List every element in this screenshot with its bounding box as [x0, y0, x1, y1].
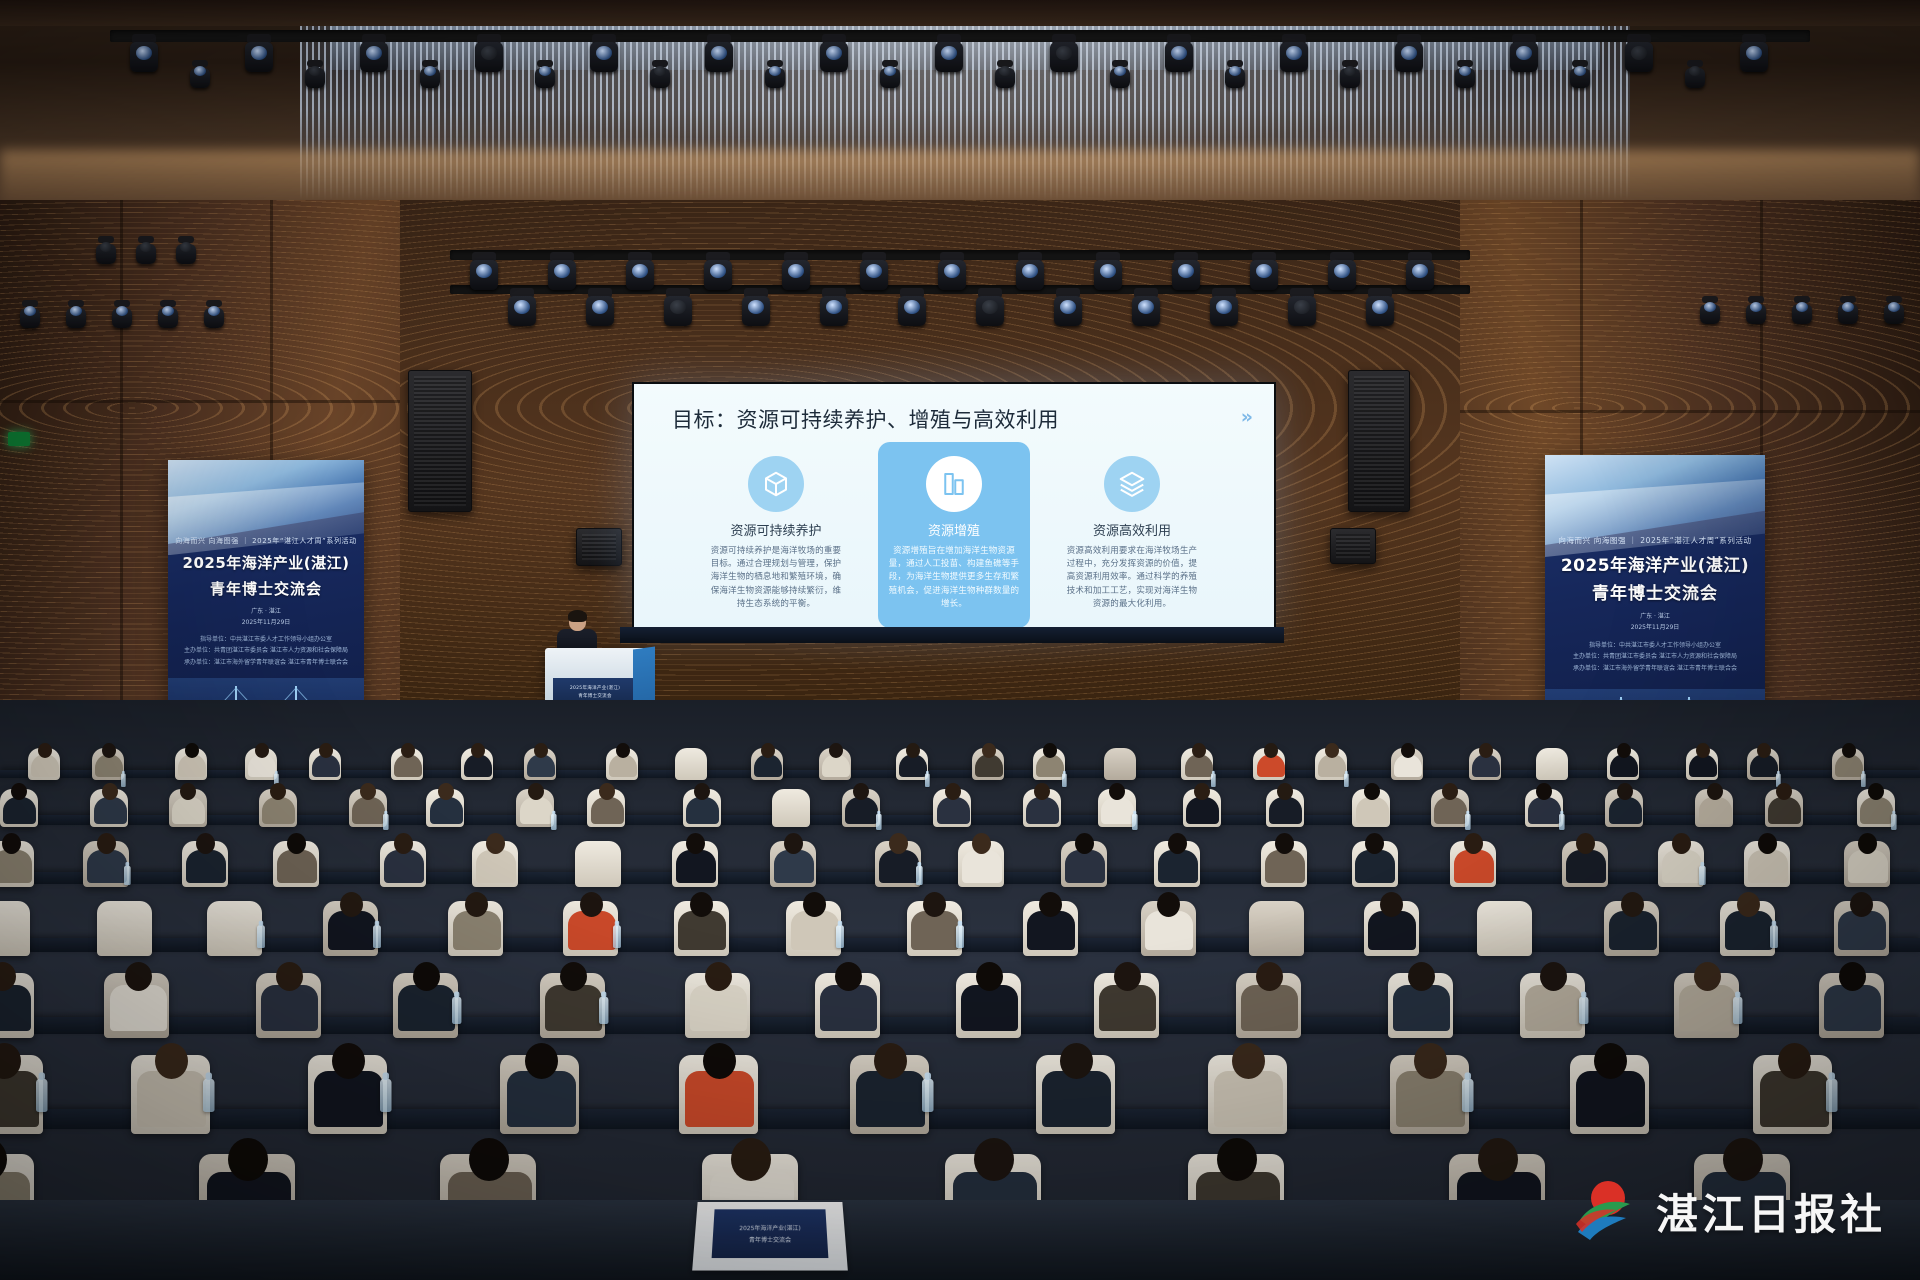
stage-light — [112, 300, 132, 332]
stage-light — [650, 60, 670, 92]
stage-light — [20, 300, 40, 332]
stage-light — [508, 288, 536, 334]
water-bottle — [36, 1079, 48, 1112]
chair — [772, 789, 810, 827]
stage-light — [705, 34, 733, 80]
audience-member — [1041, 1040, 1113, 1130]
banner-heading-2: 青年博士交流会 — [168, 578, 364, 599]
audience-member — [1157, 832, 1198, 884]
water-bottle — [1465, 814, 1471, 830]
audience-member — [261, 782, 296, 825]
water-bottle — [1733, 997, 1742, 1024]
slide-card-title: 资源增殖 — [928, 520, 980, 539]
stage-light — [1050, 34, 1078, 80]
audience-member — [1026, 890, 1075, 952]
water-bottle — [916, 866, 923, 885]
chart-bars-icon — [926, 456, 982, 512]
stage-light — [1250, 252, 1278, 298]
audience-member — [1608, 782, 1643, 825]
water-bottle — [551, 814, 557, 830]
stage-light — [626, 252, 654, 298]
audience-member — [506, 1040, 578, 1130]
chair — [0, 901, 30, 956]
audience-member — [429, 782, 464, 825]
audience-member — [844, 782, 879, 825]
water-bottle — [956, 925, 964, 948]
water-bottle — [452, 997, 461, 1024]
slide-card-2: 资源增殖资源增殖旨在增加海洋生物资源量，通过人工投苗、构建鱼礁等手段，为海洋生物… — [878, 442, 1030, 628]
water-bottle — [1579, 997, 1588, 1024]
slide-card-3: 资源高效利用资源高效利用要求在海洋牧场生产过程中，充分发挥资源的价值，提高资源利… — [1056, 442, 1208, 628]
banner-organizers: 指导单位：中共湛江市委人才工作领导小组办公室 主办单位：共青团湛江市委员会 湛江… — [1545, 640, 1765, 674]
audience-member — [0, 832, 32, 884]
audience-member — [1064, 832, 1105, 884]
chair — [97, 901, 152, 956]
audience-member — [1759, 1040, 1831, 1130]
water-bottle — [1062, 773, 1067, 787]
stage-light — [860, 252, 888, 298]
audience-member — [393, 742, 422, 778]
slide-card-body: 资源高效利用要求在海洋牧场生产过程中，充分发挥资源的价值，提高资源利用效率。通过… — [1066, 545, 1198, 611]
banner-heading-1: 2025年海洋产业(湛江) — [168, 552, 364, 573]
audience-member — [0, 1040, 41, 1130]
chair — [1477, 901, 1532, 956]
audience-member — [383, 832, 424, 884]
audience-member — [790, 890, 839, 952]
chair — [207, 901, 262, 956]
stage-light — [742, 288, 770, 334]
water-bottle — [1462, 1079, 1474, 1112]
audience-member — [1392, 960, 1451, 1034]
banner-heading-2: 青年博士交流会 — [1545, 579, 1765, 604]
table-placard: 2025年海洋产业(湛江) 青年博士交流会 — [692, 1202, 848, 1271]
line-array-speaker-left — [408, 370, 472, 512]
water-bottle — [599, 997, 608, 1024]
stage-light — [66, 300, 86, 332]
stage-light — [1700, 296, 1720, 328]
stage-light — [704, 252, 732, 298]
water-bottle — [1826, 1079, 1838, 1112]
chevron-right-icon: » — [1241, 406, 1250, 428]
conference-photo: 目标：资源可持续养护、增殖与高效利用 » 资源可持续养护资源可持续养护是海洋牧场… — [0, 0, 1920, 1280]
banner-kicker: 向海而兴 向海图强 ｜ 2025年“湛江人才周”系列活动 — [168, 536, 364, 546]
zhanjiang-daily-logo-icon — [1568, 1174, 1642, 1248]
audience-member — [819, 960, 878, 1034]
banner-location: 广东 · 湛江 — [1545, 611, 1765, 620]
water-bottle — [1559, 814, 1565, 830]
audience-member — [567, 890, 616, 952]
audience-member — [1256, 742, 1285, 778]
rollup-banner-left: 向海而兴 向海图强 ｜ 2025年“湛江人才周”系列活动 2025年海洋产业(湛… — [168, 460, 364, 740]
audience-member — [855, 1040, 927, 1130]
audience-member — [313, 1040, 385, 1130]
stage-light — [1340, 60, 1360, 92]
audience-member — [773, 832, 814, 884]
audience-member — [1185, 782, 1220, 825]
stage-light — [664, 288, 692, 334]
audience-member — [1747, 832, 1788, 884]
water-bottle — [380, 1079, 392, 1112]
audience-member — [684, 1040, 756, 1130]
stage-light — [204, 300, 224, 332]
audience-member — [475, 832, 516, 884]
audience-member — [1837, 890, 1886, 952]
stage-light — [765, 60, 785, 92]
podium-line-1: 2025年海洋产业(湛江) — [570, 685, 620, 691]
audience-member — [821, 742, 850, 778]
placard-line-2: 青年博士交流会 — [749, 1235, 791, 1244]
audience-member — [2, 782, 37, 825]
audience-member — [1698, 782, 1733, 825]
water-bottle — [1699, 866, 1706, 885]
audience-member — [1393, 742, 1422, 778]
audience-member — [910, 890, 959, 952]
chair — [1104, 748, 1136, 780]
water-bottle — [613, 925, 621, 948]
audience-member — [1575, 1040, 1647, 1130]
audience-member — [397, 960, 456, 1034]
chair — [575, 841, 621, 887]
stage-light — [938, 252, 966, 298]
placard-line-1: 2025年海洋产业(湛江) — [739, 1223, 801, 1232]
slide-card-1: 资源可持续养护资源可持续养护是海洋牧场的重要目标。通过合理规划与管理，保护海洋生… — [700, 442, 852, 628]
stage-monitor-right — [1330, 528, 1376, 564]
banner-heading-1: 2025年海洋产业(湛江) — [1545, 551, 1765, 576]
stage-light — [1746, 296, 1766, 328]
audience-member — [86, 832, 127, 884]
audience-member — [1213, 1040, 1285, 1130]
stage-light — [158, 300, 178, 332]
stage-light — [96, 236, 116, 268]
stage-light — [1094, 252, 1122, 298]
stage-light — [820, 34, 848, 80]
audience-member — [463, 742, 492, 778]
audience-member — [1355, 782, 1390, 825]
stage-light — [1740, 34, 1768, 80]
stage-light — [420, 60, 440, 92]
audience-member — [276, 832, 317, 884]
chair — [1249, 901, 1304, 956]
stage-light — [1132, 288, 1160, 334]
banner-location: 广东 · 湛江 — [168, 606, 364, 615]
stage-light — [995, 60, 1015, 92]
audience-member — [974, 742, 1003, 778]
exit-sign — [8, 432, 30, 446]
audience-member — [590, 782, 625, 825]
slide-card-title: 资源高效利用 — [1093, 520, 1171, 539]
stage-light — [935, 34, 963, 80]
audience-member — [247, 742, 276, 778]
water-bottle — [922, 1079, 934, 1112]
stage-light — [1510, 34, 1538, 80]
layers-icon — [1104, 456, 1160, 512]
stage-light — [1165, 34, 1193, 80]
audience-member — [109, 960, 168, 1034]
stage-light — [1366, 288, 1394, 334]
audience-member — [1609, 742, 1638, 778]
water-bottle — [1770, 925, 1778, 948]
stage-light — [190, 60, 210, 92]
audience-member — [1098, 960, 1157, 1034]
water-bottle — [373, 925, 381, 948]
audience-member — [753, 742, 782, 778]
audience-member — [1471, 742, 1500, 778]
audience-member — [1144, 890, 1193, 952]
stage-light — [136, 236, 156, 268]
audience-member — [936, 782, 971, 825]
stage-light — [1016, 252, 1044, 298]
stage-light — [1625, 34, 1653, 80]
audience-member — [1661, 832, 1702, 884]
slide-card-list: 资源可持续养护资源可持续养护是海洋牧场的重要目标。通过合理规划与管理，保护海洋生… — [634, 442, 1274, 628]
stage-monitor-left — [576, 528, 622, 566]
audience-member — [1527, 782, 1562, 825]
water-bottle — [1132, 814, 1138, 830]
audience-member — [1453, 832, 1494, 884]
water-bottle — [1344, 773, 1349, 787]
audience-member — [960, 960, 1019, 1034]
water-bottle — [383, 814, 389, 830]
audience-member — [526, 742, 555, 778]
audience-member — [30, 742, 59, 778]
audience-member — [685, 782, 720, 825]
stage-light — [470, 252, 498, 298]
audience-member — [94, 742, 123, 778]
audience-member — [452, 890, 501, 952]
audience-member — [1100, 782, 1135, 825]
audience-member — [1433, 782, 1468, 825]
banner-organizers: 指导单位：中共湛江市委人才工作领导小组办公室 主办单位：共青团湛江市委员会 湛江… — [168, 634, 364, 668]
banner-kicker: 向海而兴 向海图强 ｜ 2025年“湛江人才周”系列活动 — [1545, 535, 1765, 546]
stage-light — [1054, 288, 1082, 334]
water-bottle — [836, 925, 844, 948]
audience-member — [689, 960, 748, 1034]
audience-member — [898, 742, 927, 778]
slide-card-body: 资源增殖旨在增加海洋生物资源量，通过人工投苗、构建鱼礁等手段，为海洋生物提供更多… — [888, 545, 1020, 611]
stage-light — [820, 288, 848, 334]
audience-member — [311, 742, 340, 778]
stage-light — [1110, 60, 1130, 92]
audience-member — [677, 890, 726, 952]
water-bottle — [203, 1079, 215, 1112]
slide-title: 目标：资源可持续养护、增殖与高效利用 — [672, 404, 1059, 434]
stage-light — [360, 34, 388, 80]
stage-light — [1395, 34, 1423, 80]
slide-card-body: 资源可持续养护是海洋牧场的重要目标。通过合理规划与管理，保护海洋生物的栖息地和繁… — [710, 545, 842, 611]
audience-member — [1834, 742, 1863, 778]
audience-member — [1847, 832, 1888, 884]
audience-member — [1025, 782, 1060, 825]
stage-light — [1172, 252, 1200, 298]
presentation-screen: 目标：资源可持续养护、增殖与高效利用 » 资源可持续养护资源可持续养护是海洋牧场… — [632, 382, 1276, 631]
stage-light — [1570, 60, 1590, 92]
line-array-speaker-right — [1348, 370, 1410, 512]
audience-member — [1767, 782, 1802, 825]
audience-member — [1268, 782, 1303, 825]
water-bottle — [925, 773, 930, 787]
stage-light — [1884, 296, 1904, 328]
audience-member — [136, 1040, 208, 1130]
stage-light — [590, 34, 618, 80]
watermark: 湛江日报社 — [1568, 1174, 1886, 1248]
audience-member — [1859, 782, 1894, 825]
slide-card-title: 资源可持续养护 — [730, 520, 821, 539]
audience-member — [1395, 1040, 1467, 1130]
stage-light — [535, 60, 555, 92]
audience-member — [1724, 890, 1773, 952]
stage-light — [305, 60, 325, 92]
water-bottle — [124, 866, 131, 885]
audience-member — [1184, 742, 1213, 778]
stage-light — [1406, 252, 1434, 298]
audience-member — [675, 832, 716, 884]
audience-member — [171, 782, 206, 825]
audience-member — [961, 832, 1002, 884]
stage-light — [1225, 60, 1245, 92]
screen-base — [620, 627, 1284, 643]
audience-member — [1608, 890, 1657, 952]
audience-member — [878, 832, 919, 884]
audience-member — [260, 960, 319, 1034]
banner-date: 2025年11月29日 — [168, 617, 364, 626]
podium-line-2: 青年博士交流会 — [578, 693, 612, 699]
stage-light — [245, 34, 273, 80]
stage-light — [1838, 296, 1858, 328]
audience-member — [1823, 960, 1882, 1034]
stage-light — [1328, 252, 1356, 298]
water-bottle — [876, 814, 882, 830]
audience-member — [1264, 832, 1305, 884]
stage-light — [586, 288, 614, 334]
stage-light — [1685, 60, 1705, 92]
audience-member — [351, 782, 386, 825]
chair — [675, 748, 707, 780]
water-bottle — [257, 925, 265, 948]
audience-member — [1240, 960, 1299, 1034]
stage-light — [1455, 60, 1475, 92]
cube-icon — [748, 456, 804, 512]
audience-member — [1749, 742, 1778, 778]
stage-light — [475, 34, 503, 80]
stage-light — [130, 34, 158, 80]
audience-member — [93, 782, 128, 825]
audience-member — [519, 782, 554, 825]
chair — [1536, 748, 1568, 780]
audience-member — [185, 832, 226, 884]
stage-light — [1792, 296, 1812, 328]
stage-light — [782, 252, 810, 298]
audience-member — [1035, 742, 1064, 778]
audience-member — [1678, 960, 1737, 1034]
audience-member — [544, 960, 603, 1034]
stage-light — [1210, 288, 1238, 334]
audience-member — [1524, 960, 1583, 1034]
water-bottle — [1891, 814, 1897, 830]
audience-member — [1317, 742, 1346, 778]
audience-member — [0, 960, 32, 1034]
stage-light — [898, 288, 926, 334]
audience-member — [1367, 890, 1416, 952]
ceiling-band — [0, 0, 1920, 26]
stage-light — [176, 236, 196, 268]
audience-member — [608, 742, 637, 778]
stage-light — [976, 288, 1004, 334]
stage-light — [880, 60, 900, 92]
audience-member — [1565, 832, 1606, 884]
banner-date: 2025年11月29日 — [1545, 622, 1765, 631]
audience-member — [1354, 832, 1395, 884]
audience-member — [177, 742, 206, 778]
watermark-text: 湛江日报社 — [1656, 1181, 1886, 1242]
stage-light — [1288, 288, 1316, 334]
stage-light — [1280, 34, 1308, 80]
audience-member — [1688, 742, 1717, 778]
stage-light — [548, 252, 576, 298]
audience-member — [327, 890, 376, 952]
